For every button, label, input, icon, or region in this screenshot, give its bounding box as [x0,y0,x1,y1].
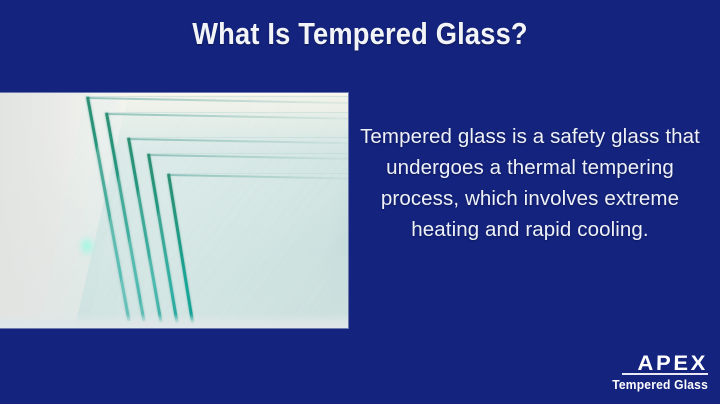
logo-tagline: Tempered Glass [604,377,708,392]
body-text: Tempered glass is a safety glass that un… [356,121,704,245]
slide-canvas: What Is Tempered Glass? Tempered glass i… [0,0,720,404]
logo-brand-wrap: APEX [596,353,708,375]
glass-stack-photo [0,93,348,328]
logo-underline-bar [622,373,708,375]
glass-edge-glow [78,235,96,257]
page-title: What Is Tempered Glass? [43,17,677,51]
photo-floor-band [0,314,348,328]
logo-brand-text: APEX [590,353,708,374]
apex-logo: APEX Tempered Glass [596,353,708,392]
glass-pane-face-5 [136,173,348,328]
